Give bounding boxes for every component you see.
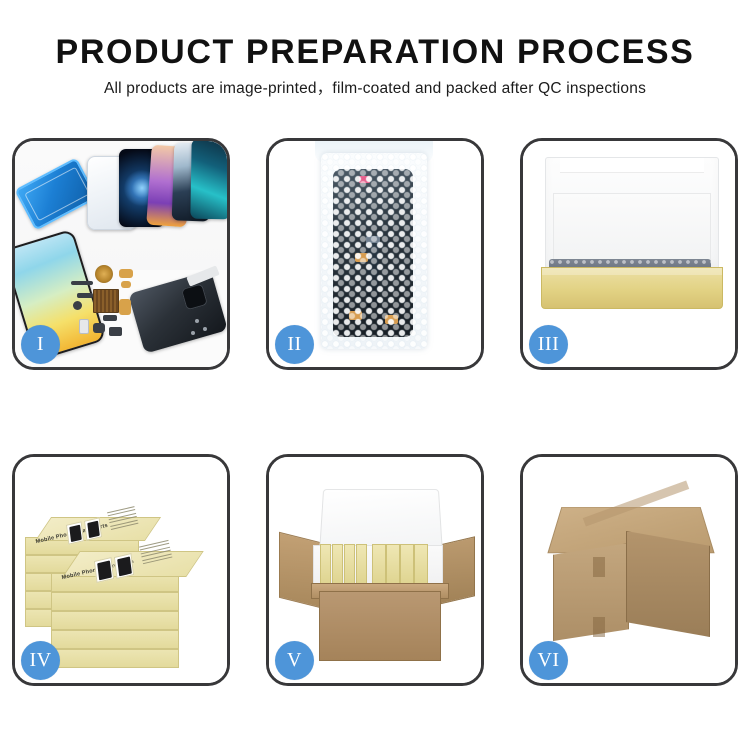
product-preparation-process-page: PRODUCT PREPARATION PROCESS All products…	[0, 0, 750, 750]
stacked-box-front-2	[51, 592, 179, 611]
page-header: PRODUCT PREPARATION PROCESS All products…	[0, 32, 750, 100]
bubble-texture-back	[321, 153, 427, 349]
step-badge-2: II	[275, 325, 314, 364]
carton-right-face	[626, 531, 710, 637]
part-coil-icon	[95, 265, 113, 283]
part-ribbon-icon	[119, 299, 131, 315]
stacked-box-front-3	[51, 611, 179, 630]
part-connector-icon	[77, 293, 93, 298]
step-badge-4: IV	[21, 641, 60, 680]
retail-box-phone-thumb-back-2	[84, 517, 102, 541]
page-subtitle: All products are image-printed，film-coat…	[0, 78, 750, 100]
step-badge-1: I	[21, 325, 60, 364]
phone-back-housing-icon	[128, 270, 227, 353]
process-step-panel-1: I	[12, 138, 230, 370]
part-screw-2-icon	[203, 327, 207, 331]
part-speaker-icon	[71, 281, 93, 285]
part-chip-grid-icon	[93, 289, 119, 313]
step-badge-3: III	[529, 325, 568, 364]
part-screw-1-icon	[195, 319, 199, 323]
carton-seam-bottom	[593, 617, 605, 637]
bubble-wrap-bag	[321, 153, 427, 349]
page-title: PRODUCT PREPARATION PROCESS	[0, 32, 750, 72]
step-badge-6: VI	[529, 641, 568, 680]
teal-phone-icon	[190, 141, 227, 219]
process-step-panel-2: II	[266, 138, 484, 370]
part-flex-cable-2-icon	[121, 281, 131, 288]
stacked-box-front-5	[51, 649, 179, 668]
part-vibrator-icon	[109, 327, 122, 336]
yellow-box-base	[541, 267, 723, 309]
retail-box-phone-thumb-front-1	[94, 557, 114, 583]
process-step-panel-3: III	[520, 138, 738, 370]
part-module-icon	[79, 319, 89, 334]
process-step-panel-6: VI	[520, 454, 738, 686]
process-step-panel-4: Mobile Phone Spare Parts	[12, 454, 230, 686]
part-bracket-icon	[103, 315, 117, 321]
carton-left-face	[553, 543, 629, 641]
retail-box-phone-thumb-front-2	[114, 553, 134, 579]
part-flex-cable-icon	[119, 269, 133, 278]
carton-seam-top	[593, 557, 605, 577]
step-badge-5: V	[275, 641, 314, 680]
process-step-panel-5: V	[266, 454, 484, 686]
part-screw-3-icon	[191, 331, 195, 335]
part-button-icon	[73, 301, 82, 310]
part-camera-icon	[93, 323, 105, 333]
carton-front-face	[319, 591, 441, 661]
box-stack: Mobile Phone Spare Parts	[21, 475, 227, 671]
stacked-box-front-4	[51, 630, 179, 649]
process-steps-grid: I	[12, 138, 738, 686]
retail-box-phone-thumb-back-1	[66, 521, 84, 545]
